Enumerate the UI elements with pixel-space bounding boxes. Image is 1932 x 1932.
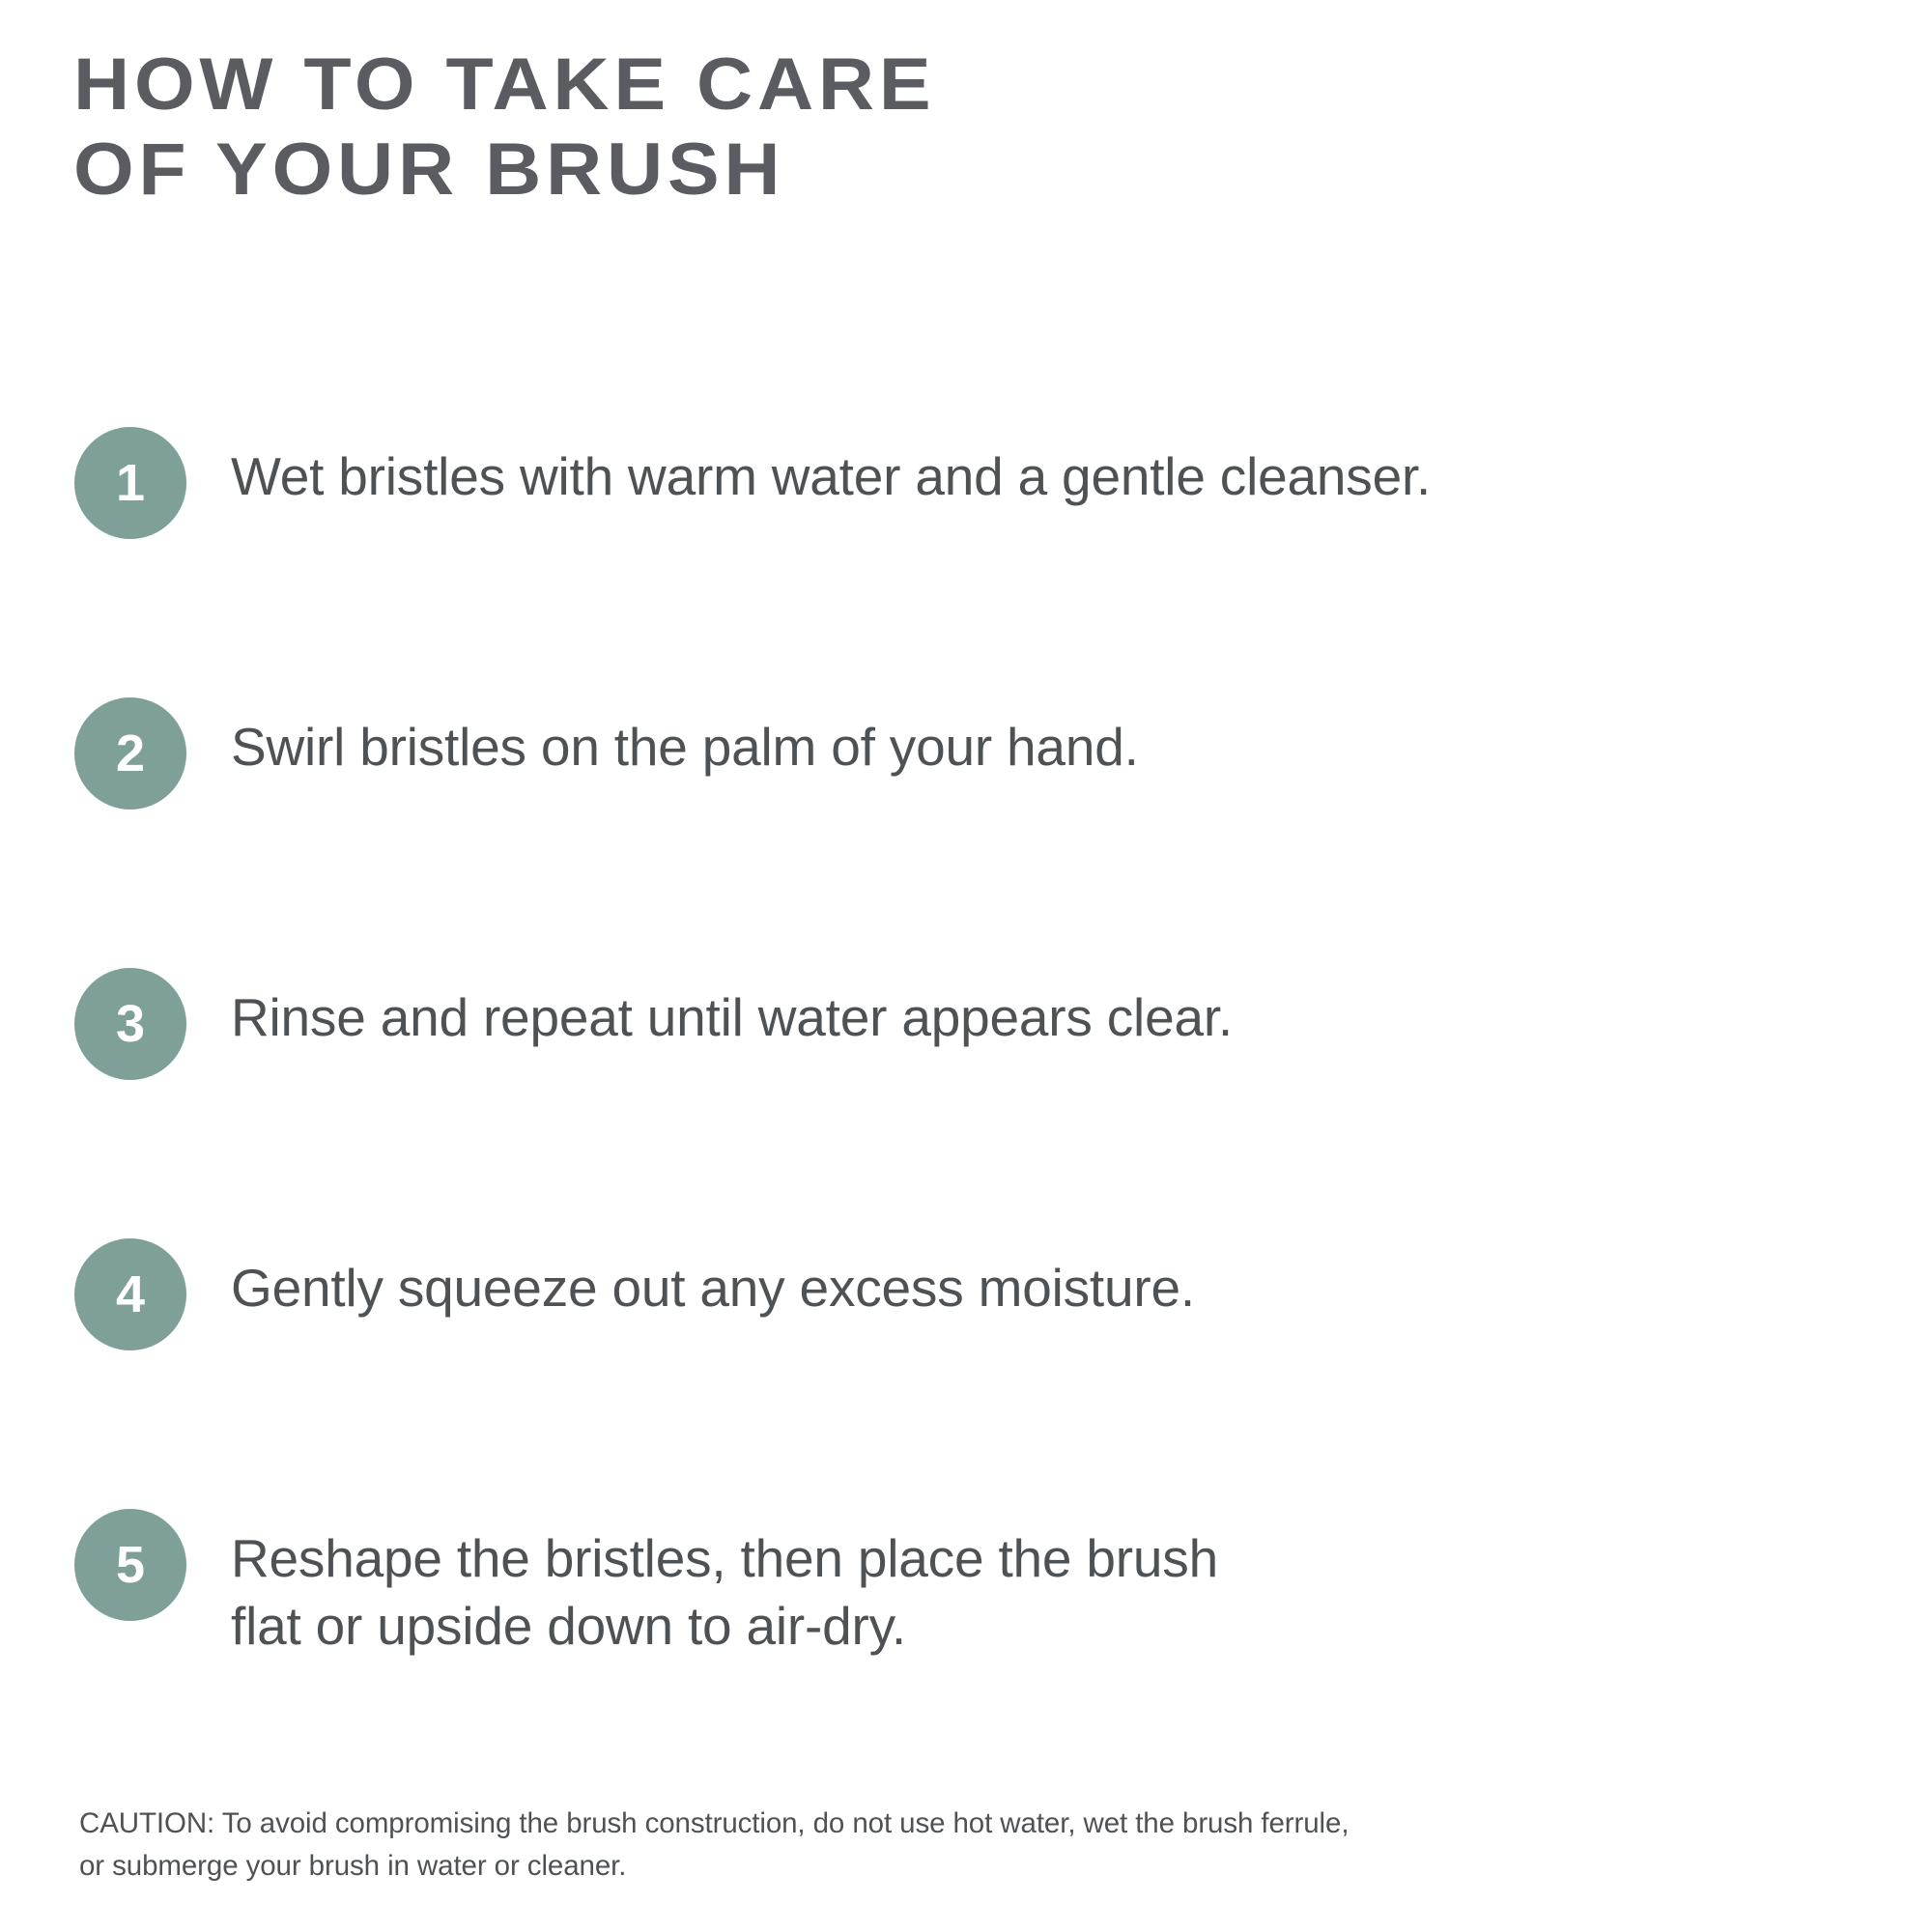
list-item: 1 Wet bristles with warm water and a gen… (74, 427, 1861, 539)
step-text-2: Swirl bristles on the palm of your hand. (231, 697, 1139, 781)
step-number-badge-4: 4 (74, 1238, 186, 1350)
step-text-4: Gently squeeze out any excess moisture. (231, 1238, 1195, 1321)
step-number-badge-5: 5 (74, 1509, 186, 1621)
step-text-1: Wet bristles with warm water and a gentl… (231, 427, 1431, 510)
list-item: 3 Rinse and repeat until water appears c… (74, 968, 1861, 1080)
page-title: HOW TO TAKE CARE OF YOUR BRUSH (73, 43, 1716, 213)
step-number-badge-1: 1 (74, 427, 186, 539)
step-text-3: Rinse and repeat until water appears cle… (231, 968, 1233, 1051)
step-number-badge-3: 3 (74, 968, 186, 1080)
caution-note: CAUTION: To avoid compromising the brush… (79, 1803, 1818, 1888)
care-instructions-card: HOW TO TAKE CARE OF YOUR BRUSH 1 Wet bri… (0, 0, 1932, 1932)
page-title-line-2: OF YOUR BRUSH (73, 128, 1814, 213)
step-text-5: Reshape the bristles, then place the bru… (231, 1509, 1218, 1660)
list-item: 4 Gently squeeze out any excess moisture… (74, 1238, 1861, 1350)
page-title-line-1: HOW TO TAKE CARE (73, 43, 1814, 128)
list-item: 2 Swirl bristles on the palm of your han… (74, 697, 1861, 810)
list-item: 5 Reshape the bristles, then place the b… (74, 1509, 1861, 1660)
step-number-badge-2: 2 (74, 697, 186, 810)
